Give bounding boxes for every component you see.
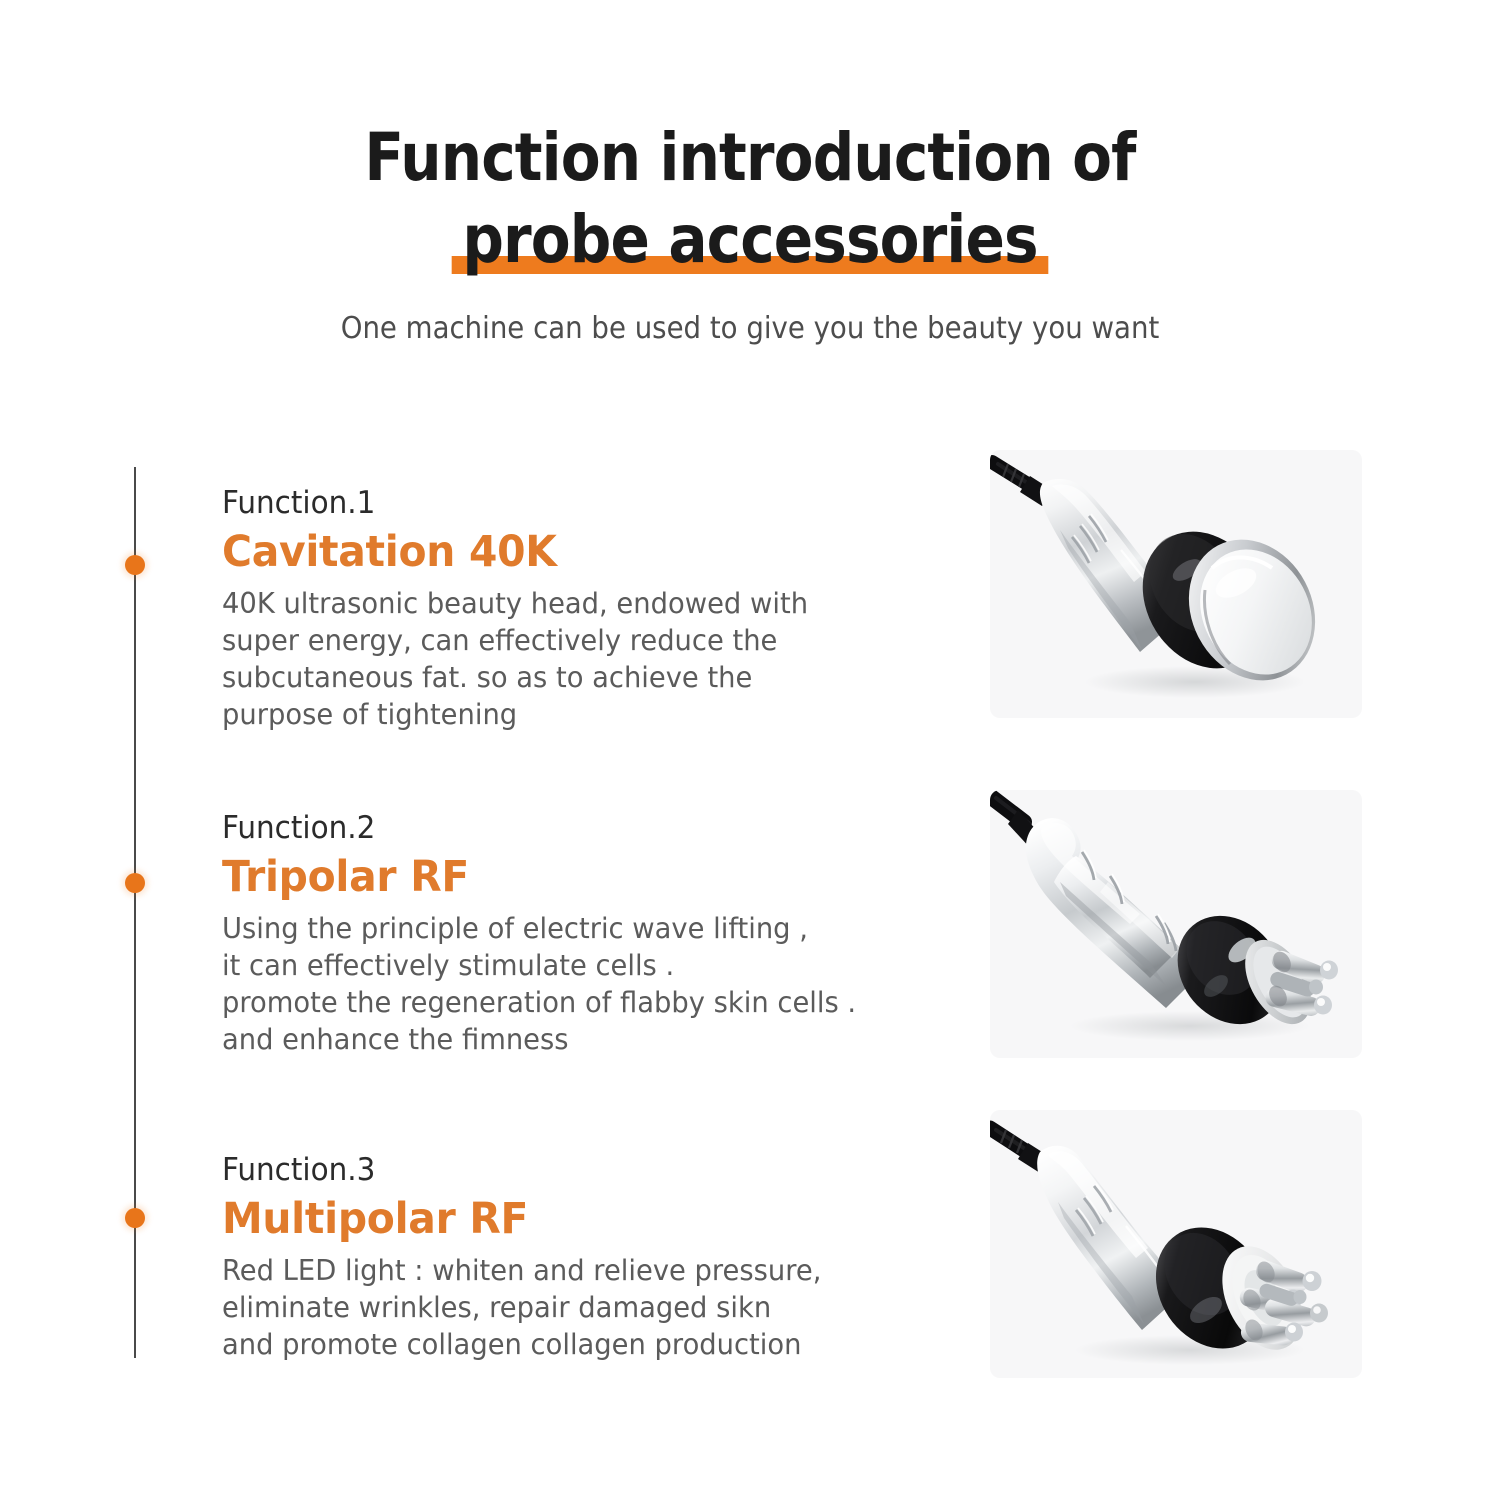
page-title: Function introduction of probe accessori… xyxy=(90,118,1410,280)
timeline-dot-2 xyxy=(125,873,145,893)
product-image-panel-1 xyxy=(990,450,1362,718)
page-title-line-2: probe accessories xyxy=(90,200,1410,280)
function-2-kicker: Function.2 xyxy=(222,808,850,848)
function-2-description: Using the principle of electric wave lif… xyxy=(222,910,856,1058)
function-3-title: Multipolar RF xyxy=(222,1192,815,1247)
function-2-title: Tripolar RF xyxy=(222,850,850,905)
cavitation-40k-probe-illustration xyxy=(990,450,1362,718)
product-image-panel-2 xyxy=(990,790,1362,1058)
function-block-2: Function.2 Tripolar RF Using the princip… xyxy=(222,808,883,1058)
page-title-line-1: Function introduction of xyxy=(90,118,1410,198)
page-title-line-2-text: probe accessories xyxy=(462,201,1037,278)
timeline-dot-3 xyxy=(125,1208,145,1228)
function-3-kicker: Function.3 xyxy=(222,1150,815,1190)
tripolar-rf-probe-illustration xyxy=(990,790,1362,1058)
function-1-description: 40K ultrasonic beauty head, endowed with… xyxy=(222,585,808,733)
function-block-3: Function.3 Multipolar RF Red LED light :… xyxy=(222,1150,846,1363)
product-image-panel-3 xyxy=(990,1110,1362,1378)
multipolar-rf-probe-illustration xyxy=(990,1110,1362,1378)
timeline-dot-1 xyxy=(125,555,145,575)
page-subtitle: One machine can be used to give you the … xyxy=(60,308,1440,350)
function-block-1: Function.1 Cavitation 40K 40K ultrasonic… xyxy=(222,483,832,733)
function-3-description: Red LED light : whiten and relieve press… xyxy=(222,1252,821,1363)
function-1-kicker: Function.1 xyxy=(222,483,802,523)
function-1-title: Cavitation 40K xyxy=(222,525,802,580)
